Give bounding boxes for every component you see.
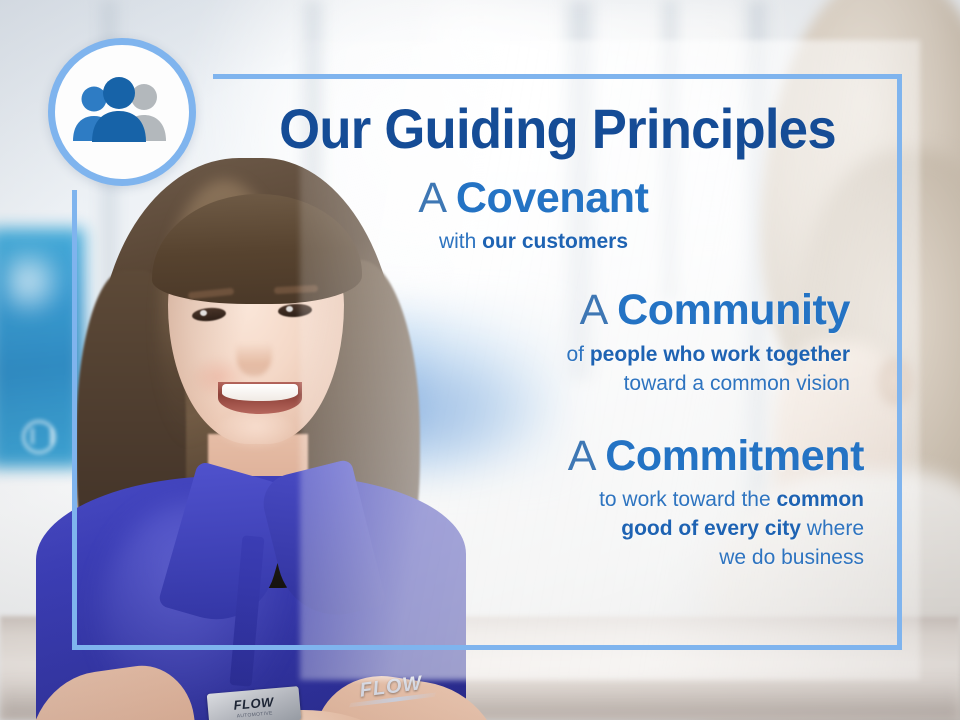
page-title: Our Guiding Principles: [262, 100, 853, 157]
principle-community: A Community of people who work togethert…: [243, 287, 872, 398]
principle-subtext: to work toward the commongood of every c…: [243, 486, 864, 573]
emphasis-text: good of every city: [621, 517, 801, 540]
plain-text: with: [439, 230, 482, 253]
principle-subtext-line: we do business: [243, 544, 864, 573]
principle-subtext-line: with our customers: [243, 228, 824, 257]
emphasis-text: common: [776, 488, 864, 511]
principle-subtext-line: good of every city where: [243, 515, 864, 544]
employee-eye-highlight-left: [200, 310, 207, 316]
principle-keyword: Covenant: [456, 174, 649, 222]
principle-article: A: [568, 432, 605, 480]
principle-keyword: Community: [617, 286, 850, 334]
principle-article: A: [580, 286, 617, 334]
principle-subtext-line: toward a common vision: [243, 370, 850, 399]
name-badge-logo-text: FLOW: [233, 695, 274, 711]
principle-article: A: [418, 174, 455, 222]
principle-subtext: of people who work togethertoward a comm…: [243, 341, 850, 399]
plain-text: where: [801, 517, 864, 540]
principle-keyword: Commitment: [605, 432, 864, 480]
text-content: Our Guiding Principles A Covenant with o…: [213, 74, 902, 650]
marketing-graphic: FLOW FLOW AUTOMOTIVE: [0, 0, 960, 720]
principle-covenant: A Covenant with our customers: [243, 175, 872, 257]
principle-subtext-line: of people who work together: [243, 341, 850, 370]
principle-heading: A Community: [243, 287, 850, 334]
plain-text: of: [566, 343, 589, 366]
principle-subtext: with our customers: [243, 228, 824, 257]
principle-heading: A Commitment: [243, 433, 864, 480]
principle-subtext-line: to work toward the common: [243, 486, 864, 515]
principle-heading: A Covenant: [243, 175, 824, 222]
decorative-frame-left: [72, 190, 77, 650]
principle-commitment: A Commitment to work toward the commongo…: [243, 433, 872, 573]
plain-text: we do business: [719, 546, 864, 569]
people-group-icon: [70, 75, 174, 149]
plain-text: to work toward the: [599, 488, 776, 511]
people-badge: [48, 38, 196, 186]
emphasis-text: people who work together: [590, 343, 850, 366]
plain-text: toward a common vision: [624, 372, 850, 395]
emphasis-text: our customers: [482, 230, 628, 253]
